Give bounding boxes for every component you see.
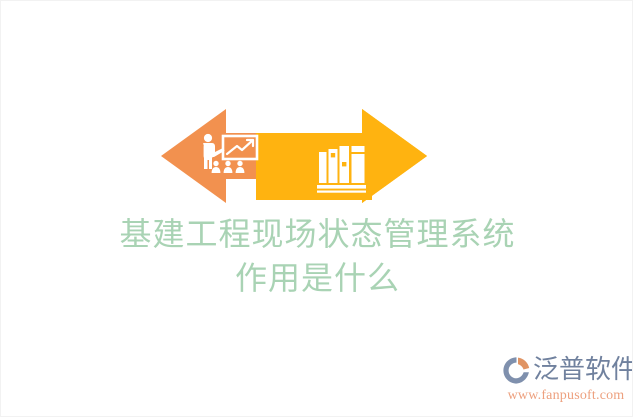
poster-canvas: 基建工程现场状态管理系统 作用是什么 泛普软件 www.fanpusoft.co… [0,0,633,417]
page-title: 基建工程现场状态管理系统 作用是什么 [1,212,633,300]
brand-logo: 泛普软件 www.fanpusoft.com [502,353,630,405]
brand-wordmark: 泛普软件 [533,356,633,384]
fanpu-swoosh-logo-icon [502,356,531,385]
brand-website-url: www.fanpusoft.com [502,388,630,404]
double-arrow-exchange-graphic [161,105,427,207]
brand-logo-row: 泛普软件 [502,353,630,387]
page-title-line-1: 基建工程现场状态管理系统 [1,212,633,256]
page-title-line-2: 作用是什么 [1,256,633,300]
